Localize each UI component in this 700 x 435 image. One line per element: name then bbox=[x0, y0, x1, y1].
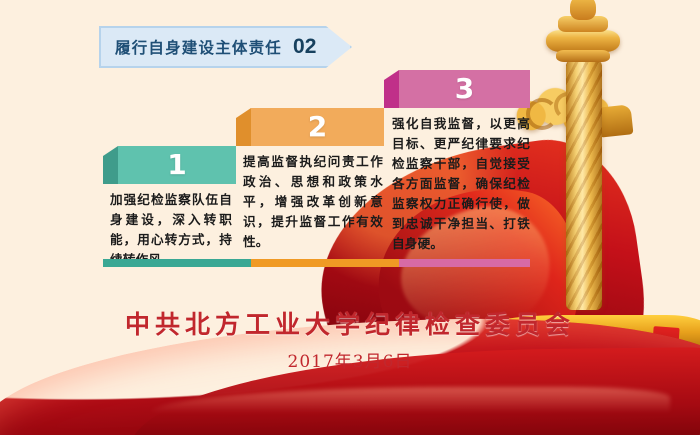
step-card-2-header: 2 bbox=[251, 108, 384, 146]
step-card-2[interactable]: 2 bbox=[236, 108, 384, 146]
section-banner-inner: 履行自身建设主体责任 02 bbox=[101, 28, 350, 66]
crowd-silhouette bbox=[450, 407, 514, 435]
step-card-1-header: 1 bbox=[118, 146, 236, 184]
section-banner-title: 履行自身建设主体责任 bbox=[115, 36, 282, 58]
step-card-2-number: 2 bbox=[308, 110, 327, 143]
step-card-2-fold bbox=[236, 108, 251, 146]
gate-side-text: 世界 bbox=[456, 406, 487, 429]
gate-columns bbox=[469, 381, 697, 407]
step-card-3-fold bbox=[384, 70, 399, 108]
step-card-2-body: 提高监督执纪问责工作政治、思想和政策水平，增强改革创新意识，提升监督工作有效性。 bbox=[243, 152, 383, 252]
step-progress-bar bbox=[103, 259, 530, 267]
cloud-swirl-secondary-icon bbox=[554, 92, 582, 120]
column-wing-icon bbox=[597, 104, 634, 137]
gate-body bbox=[463, 379, 700, 409]
step-card-1-number: 1 bbox=[167, 148, 186, 181]
huabiao-column-icon bbox=[540, 0, 626, 314]
step-progress-segment-3 bbox=[399, 259, 530, 267]
step-card-3[interactable]: 3 bbox=[384, 70, 530, 108]
cloud-swirl-icon bbox=[526, 98, 558, 130]
column-shaft bbox=[566, 60, 602, 310]
step-card-3-body: 强化自我监督，以更高目标、更严纪律要求纪检监察干部，自觉接受各方面监督，确保纪检… bbox=[392, 114, 530, 254]
step-progress-segment-1 bbox=[103, 259, 251, 267]
step-card-3-number: 3 bbox=[455, 72, 474, 105]
section-banner: 履行自身建设主体责任 02 bbox=[99, 26, 352, 68]
column-cap bbox=[558, 16, 608, 32]
step-progress-segment-2 bbox=[251, 259, 399, 267]
column-finial bbox=[570, 0, 596, 20]
step-card-1[interactable]: 1 bbox=[103, 146, 236, 184]
step-card-1-body: 加强纪检监察队伍自身建设，深入转职能，用心转方式，持续转作风。 bbox=[110, 190, 232, 270]
step-card-1-fold bbox=[103, 146, 118, 184]
section-banner-number: 02 bbox=[293, 35, 316, 59]
column-plate-lower bbox=[556, 50, 610, 62]
red-ribbon-highlight bbox=[150, 387, 670, 413]
column-plate bbox=[546, 30, 620, 52]
footer-organization-title: 中共北方工业大学纪律检查委员会 bbox=[0, 305, 700, 341]
gate-base bbox=[450, 405, 700, 435]
footer-date: 2017年3月6日 bbox=[0, 347, 700, 372]
slide-canvas: 中华人民共和国万岁 世界 履行自身建设主体责任 02 1 加强纪检监察队伍自身建… bbox=[0, 0, 700, 435]
step-card-3-header: 3 bbox=[399, 70, 530, 108]
gate-banner-text: 中华人民共和国万岁 bbox=[509, 402, 688, 426]
